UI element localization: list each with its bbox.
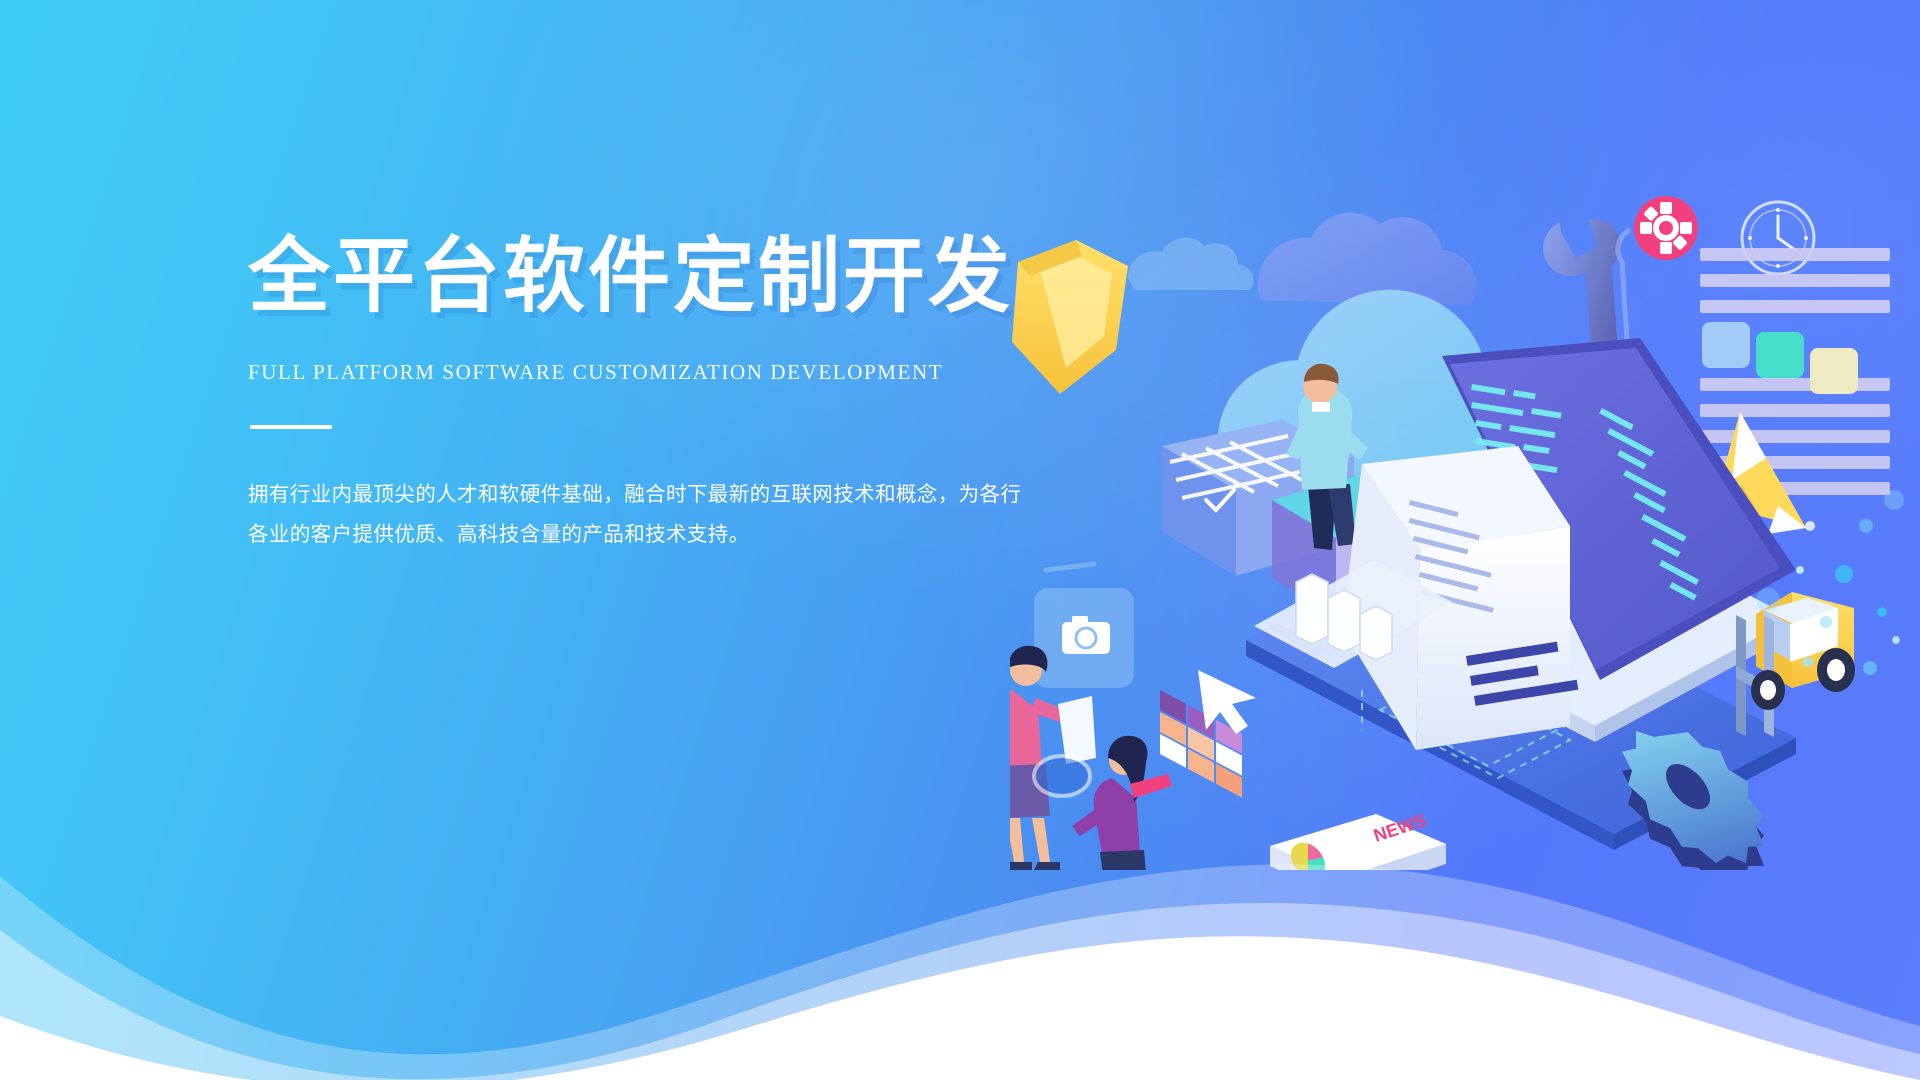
camera-icon xyxy=(1034,564,1134,688)
page-description: 拥有行业内最顶尖的人才和软硬件基础，融合时下最新的互联网技术和概念，为各行 各业… xyxy=(248,475,1038,555)
gear-badge-icon xyxy=(1634,196,1698,260)
title-divider xyxy=(250,425,332,429)
description-line-2: 各业的客户提供优质、高科技含量的产品和技术支持。 xyxy=(248,515,1038,555)
clock-icon xyxy=(1742,202,1814,274)
cursor-arrow-icon xyxy=(1198,670,1256,734)
description-line-1: 拥有行业内最顶尖的人才和软硬件基础，融合时下最新的互联网技术和概念，为各行 xyxy=(248,475,1038,515)
hero-banner: 全平台软件定制开发 FULL PLATFORM SOFTWARE CUSTOMI… xyxy=(0,0,1920,1080)
shield-icon xyxy=(1012,240,1128,394)
page-subtitle: FULL PLATFORM SOFTWARE CUSTOMIZATION DEV… xyxy=(248,360,1068,385)
cloud-icon-small xyxy=(1128,237,1254,290)
hero-text-block: 全平台软件定制开发 FULL PLATFORM SOFTWARE CUSTOMI… xyxy=(248,236,1068,555)
bottom-wave-decoration xyxy=(0,780,1920,1080)
hero-illustration: NEWS xyxy=(1010,170,1920,870)
cloud-icon-back xyxy=(1258,213,1477,306)
page-title: 全平台软件定制开发 xyxy=(248,236,1068,318)
